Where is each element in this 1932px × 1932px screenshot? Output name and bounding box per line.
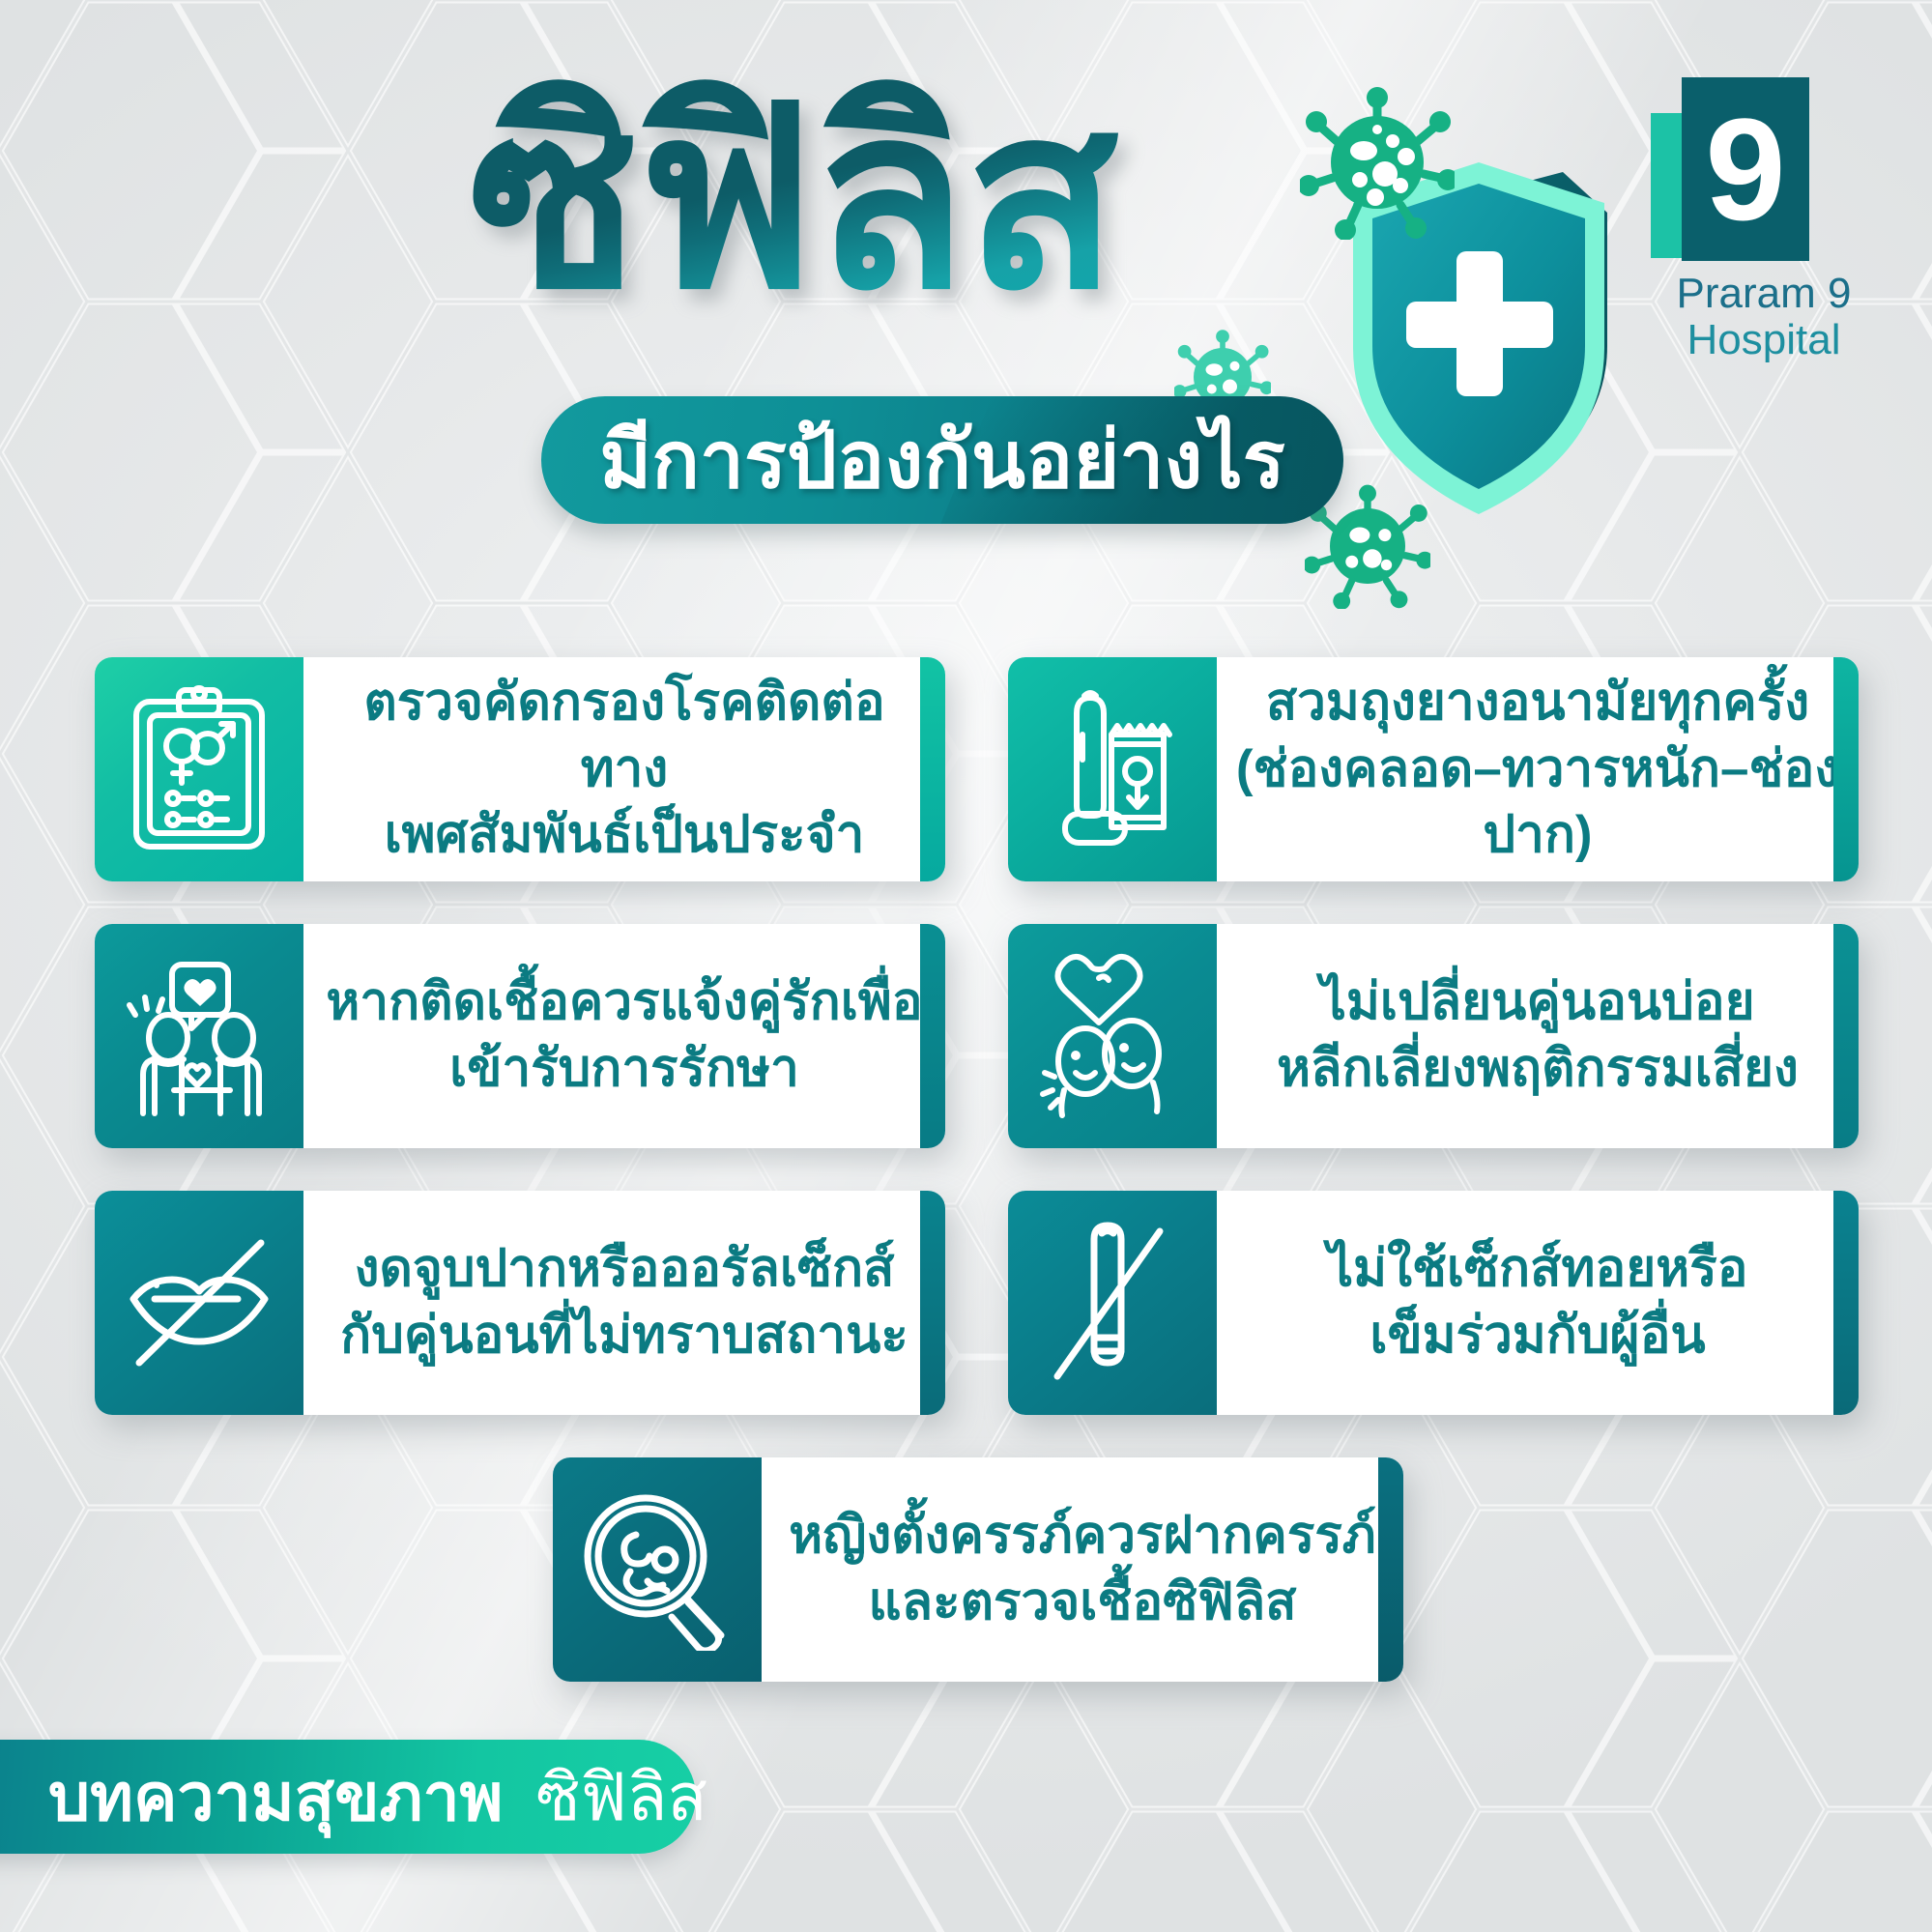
card-edge bbox=[920, 657, 945, 881]
card-screening[interactable]: ตรวจคัดกรองโรคติดต่อทาง เพศสัมพันธ์เป็นป… bbox=[95, 657, 945, 881]
page-title: ซิฟิลิส bbox=[459, 68, 1127, 332]
virus-particle-icon bbox=[1300, 85, 1455, 240]
card-line-1: ตรวจคัดกรองโรคติดต่อทาง bbox=[321, 670, 928, 803]
card-no-sharing-toys-needles[interactable]: ไม่ใช้เซ็กส์ทอยหรือ เข็มร่วมกับผู้อื่น bbox=[1008, 1191, 1859, 1415]
card-line-1: หากติดเชื้อควรแจ้งคู่รักเพื่อ bbox=[326, 969, 922, 1036]
footer-bold-label: บทความสุขภาพ bbox=[48, 1745, 504, 1849]
subtitle-banner: มีการป้องกันอย่างไร bbox=[541, 396, 1343, 524]
praram9-logo: 9 Praram 9 Hospital bbox=[1643, 60, 1885, 398]
card-text: ตรวจคัดกรองโรคติดต่อทาง เพศสัมพันธ์เป็นป… bbox=[303, 657, 945, 881]
footer-text: บทความสุขภาพ ซิฟิลิส bbox=[48, 1745, 707, 1849]
card-condom[interactable]: สวมถุงยางอนามัยทุกครั้ง (ช่องคลอด–ทวารหน… bbox=[1008, 657, 1859, 881]
footer-light-label: ซิฟิลิส bbox=[536, 1745, 707, 1849]
card-line-1: ไม่เปลี่ยนคู่นอนบ่อย bbox=[1320, 969, 1754, 1036]
card-edge bbox=[1833, 1191, 1859, 1415]
card-line-1: งดจูบปากหรือออรัลเซ็กส์ bbox=[355, 1236, 895, 1303]
card-line-1: หญิงตั้งครรภ์ควรฝากครรภ์ bbox=[789, 1503, 1376, 1570]
card-text: ไม่ใช้เซ็กส์ทอยหรือ เข็มร่วมกับผู้อื่น bbox=[1217, 1191, 1859, 1415]
card-avoid-multiple-partners[interactable]: ไม่เปลี่ยนคู่นอนบ่อย หลีกเลี่ยงพฤติกรรมเ… bbox=[1008, 924, 1859, 1148]
card-line-2: (ช่องคลอด–ทวารหนัก–ช่องปาก) bbox=[1234, 736, 1841, 870]
no-kissing-lips-icon bbox=[95, 1191, 303, 1415]
prevention-card-grid: ตรวจคัดกรองโรคติดต่อทาง เพศสัมพันธ์เป็นป… bbox=[0, 638, 1932, 1720]
card-line-2: เพศสัมพันธ์เป็นประจำ bbox=[385, 802, 865, 869]
clipboard-gender-symbols-icon bbox=[95, 657, 303, 881]
card-line-2: เข้ารับการรักษา bbox=[449, 1036, 799, 1103]
logo-number: 9 bbox=[1682, 77, 1809, 261]
card-no-kissing-oral[interactable]: งดจูบปากหรือออรัลเซ็กส์ กับคู่นอนที่ไม่ท… bbox=[95, 1191, 945, 1415]
card-text: ไม่เปลี่ยนคู่นอนบ่อย หลีกเลี่ยงพฤติกรรมเ… bbox=[1217, 924, 1859, 1148]
card-line-2: หลีกเลี่ยงพฤติกรรมเสี่ยง bbox=[1277, 1036, 1799, 1103]
card-line-1: สวมถุงยางอนามัยทุกครั้ง bbox=[1266, 670, 1809, 736]
card-edge bbox=[1833, 924, 1859, 1148]
logo-name-line2: Hospital bbox=[1633, 317, 1894, 363]
no-sharing-needle-icon bbox=[1008, 1191, 1217, 1415]
card-edge bbox=[1378, 1457, 1403, 1682]
footer-banner: บทความสุขภาพ ซิฟิลิส bbox=[0, 1740, 696, 1854]
card-edge bbox=[1833, 657, 1859, 881]
card-line-1: ไม่ใช้เซ็กส์ทอยหรือ bbox=[1327, 1236, 1747, 1303]
logo-name-line1: Praram 9 bbox=[1633, 271, 1894, 317]
card-edge bbox=[920, 924, 945, 1148]
magnifier-fetus-icon bbox=[553, 1457, 762, 1682]
card-pregnancy-screening[interactable]: หญิงตั้งครรภ์ควรฝากครรภ์ และตรวจเชื้อซิฟ… bbox=[553, 1457, 1403, 1682]
card-notify-partner[interactable]: หากติดเชื้อควรแจ้งคู่รักเพื่อ เข้ารับการ… bbox=[95, 924, 945, 1148]
card-text: งดจูบปากหรือออรัลเซ็กส์ กับคู่นอนที่ไม่ท… bbox=[303, 1191, 945, 1415]
couple-counselling-heart-icon bbox=[95, 924, 303, 1148]
logo-hospital-name: Praram 9 Hospital bbox=[1633, 271, 1894, 364]
card-text: สวมถุงยางอนามัยทุกครั้ง (ช่องคลอด–ทวารหน… bbox=[1217, 657, 1859, 881]
condom-package-icon bbox=[1008, 657, 1217, 881]
card-line-2: เข็มร่วมกับผู้อื่น bbox=[1370, 1303, 1705, 1370]
card-line-2: และตรวจเชื้อซิฟิลิส bbox=[868, 1570, 1296, 1636]
header: ซิฟิลิส bbox=[0, 0, 1932, 599]
card-line-2: กับคู่นอนที่ไม่ทราบสถานะ bbox=[340, 1303, 908, 1370]
couple-with-heart-icon bbox=[1008, 924, 1217, 1148]
card-edge bbox=[920, 1191, 945, 1415]
subtitle-text: มีการป้องกันอย่างไร bbox=[541, 396, 1343, 524]
card-text: หากติดเชื้อควรแจ้งคู่รักเพื่อ เข้ารับการ… bbox=[303, 924, 945, 1148]
card-text: หญิงตั้งครรภ์ควรฝากครรภ์ และตรวจเชื้อซิฟ… bbox=[762, 1457, 1403, 1682]
